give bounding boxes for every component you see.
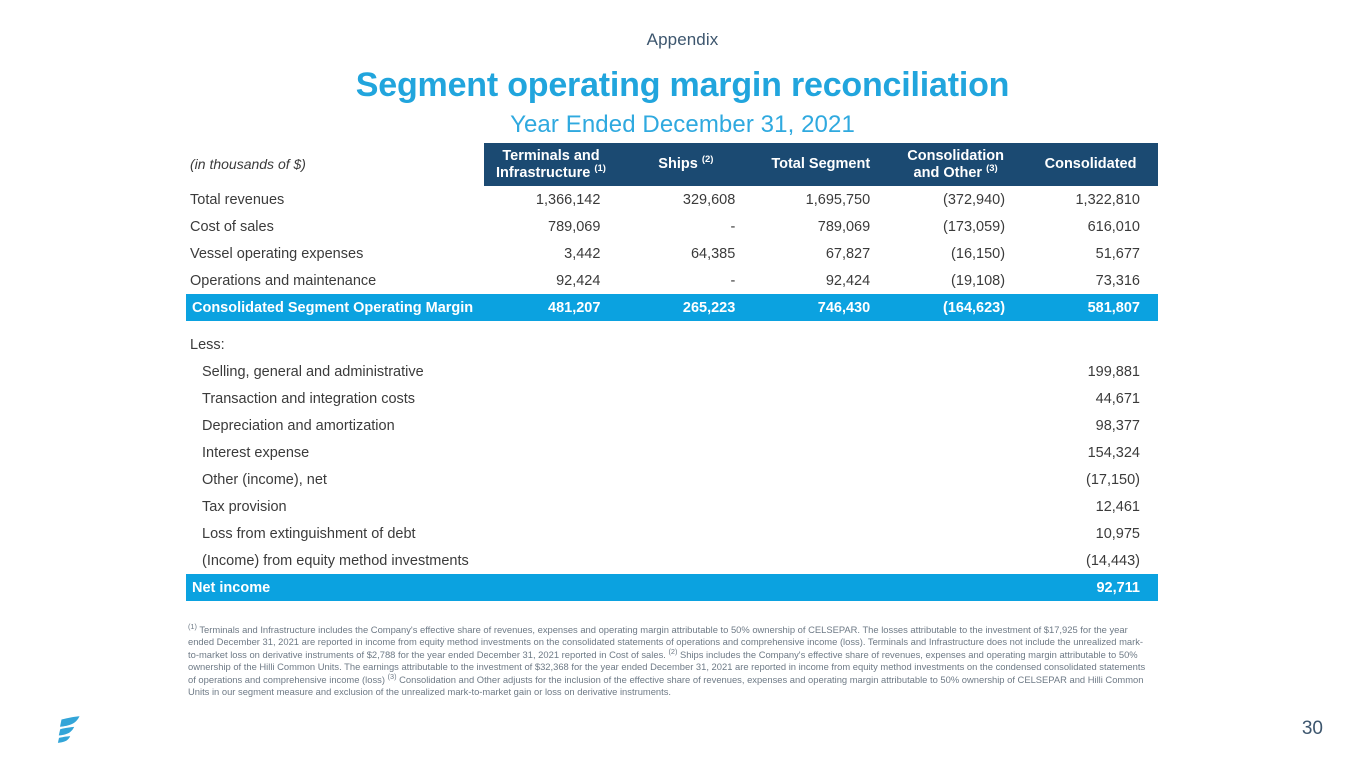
units-label: (in thousands of $) (186, 143, 484, 186)
footnote-marker: (3) (388, 672, 397, 681)
table-row: Selling, general and administrative199,8… (186, 358, 1158, 385)
row-value-col3: 67,827 (753, 240, 888, 267)
table-row: Other (income), net(17,150) (186, 466, 1158, 493)
column-header-footnote-marker: (3) (986, 163, 998, 174)
column-header-label: Ships (658, 156, 702, 172)
row-value-col3 (753, 493, 888, 520)
row-label: Operations and maintenance (186, 267, 484, 294)
row-spacer-cell (186, 321, 1158, 331)
table-body: Total revenues1,366,142329,6081,695,750(… (186, 186, 1158, 601)
row-value-col5 (1023, 331, 1158, 358)
row-value-col2 (618, 466, 753, 493)
row-value-col2 (618, 547, 753, 574)
row-value-col5: 581,807 (1023, 294, 1158, 321)
row-value-col3 (753, 547, 888, 574)
column-header-footnote-marker: (1) (594, 163, 606, 174)
row-value-col1 (484, 493, 619, 520)
row-value-col4: (16,150) (888, 240, 1023, 267)
row-value-col5: 199,881 (1023, 358, 1158, 385)
row-value-col3: 789,069 (753, 213, 888, 240)
row-value-col2 (618, 331, 753, 358)
row-value-col3: 746,430 (753, 294, 888, 321)
row-label: Cost of sales (186, 213, 484, 240)
row-value-col4: (372,940) (888, 186, 1023, 213)
row-label: Loss from extinguishment of debt (186, 520, 484, 547)
row-value-col1 (484, 385, 619, 412)
page-title: Segment operating margin reconciliation (0, 66, 1365, 105)
row-label: Interest expense (186, 439, 484, 466)
row-value-col2: 265,223 (618, 294, 753, 321)
row-value-col5: 10,975 (1023, 520, 1158, 547)
table-row-highlight: Consolidated Segment Operating Margin481… (186, 294, 1158, 321)
table-row: Operations and maintenance92,424-92,424(… (186, 267, 1158, 294)
row-value-col3 (753, 520, 888, 547)
row-label: Vessel operating expenses (186, 240, 484, 267)
row-value-col5: 98,377 (1023, 412, 1158, 439)
row-value-col4: (164,623) (888, 294, 1023, 321)
row-label: Depreciation and amortization (186, 412, 484, 439)
row-value-col2: 329,608 (618, 186, 753, 213)
page-subtitle: Year Ended December 31, 2021 (0, 111, 1365, 139)
row-value-col4 (888, 385, 1023, 412)
row-value-col2 (618, 439, 753, 466)
row-value-col5: 12,461 (1023, 493, 1158, 520)
row-value-col2 (618, 385, 753, 412)
row-value-col1 (484, 574, 619, 601)
row-value-col1 (484, 439, 619, 466)
row-label: Other (income), net (186, 466, 484, 493)
row-value-col3 (753, 412, 888, 439)
row-value-col4 (888, 331, 1023, 358)
table-row: Total revenues1,366,142329,6081,695,750(… (186, 186, 1158, 213)
row-value-col5: 92,711 (1023, 574, 1158, 601)
row-value-col5: (17,150) (1023, 466, 1158, 493)
table-row-highlight: Net income92,711 (186, 574, 1158, 601)
row-value-col5: 1,322,810 (1023, 186, 1158, 213)
column-header-4: Consolidation and Other (3) (888, 143, 1023, 186)
segment-operating-margin-table: (in thousands of $) Terminals and Infras… (186, 143, 1158, 601)
row-value-col1 (484, 547, 619, 574)
row-value-col2 (618, 574, 753, 601)
row-value-col5: 154,324 (1023, 439, 1158, 466)
row-value-col1: 481,207 (484, 294, 619, 321)
row-spacer (186, 321, 1158, 331)
table-row: Tax provision12,461 (186, 493, 1158, 520)
row-value-col1 (484, 466, 619, 493)
row-label: Selling, general and administrative (186, 358, 484, 385)
row-value-col1 (484, 520, 619, 547)
row-value-col4 (888, 574, 1023, 601)
column-header-label: Terminals and Infrastructure (496, 148, 600, 180)
table-row: Cost of sales789,069-789,069(173,059)616… (186, 213, 1158, 240)
row-value-col1 (484, 331, 619, 358)
row-value-col4 (888, 493, 1023, 520)
row-value-col3 (753, 439, 888, 466)
row-value-col1: 92,424 (484, 267, 619, 294)
row-value-col4: (19,108) (888, 267, 1023, 294)
row-label: Consolidated Segment Operating Margin (186, 294, 484, 321)
row-value-col1: 789,069 (484, 213, 619, 240)
row-value-col2: 64,385 (618, 240, 753, 267)
table-row: Vessel operating expenses3,44264,38567,8… (186, 240, 1158, 267)
row-value-col2: - (618, 267, 753, 294)
row-value-col3: 1,695,750 (753, 186, 888, 213)
row-value-col5: (14,443) (1023, 547, 1158, 574)
row-value-col2 (618, 358, 753, 385)
table-row: (Income) from equity method investments(… (186, 547, 1158, 574)
row-value-col2: - (618, 213, 753, 240)
column-header-1: Terminals and Infrastructure (1) (484, 143, 619, 186)
table-row: Less: (186, 331, 1158, 358)
row-value-col3: 92,424 (753, 267, 888, 294)
row-value-col4 (888, 547, 1023, 574)
row-value-col3 (753, 466, 888, 493)
row-value-col5: 616,010 (1023, 213, 1158, 240)
table-row: Interest expense154,324 (186, 439, 1158, 466)
row-value-col3 (753, 385, 888, 412)
row-label: Net income (186, 574, 484, 601)
row-value-col4 (888, 466, 1023, 493)
fortress-flng-f-logo (48, 712, 90, 754)
row-value-col2 (618, 412, 753, 439)
row-value-col5: 73,316 (1023, 267, 1158, 294)
row-value-col3 (753, 574, 888, 601)
row-value-col5: 44,671 (1023, 385, 1158, 412)
row-label: Tax provision (186, 493, 484, 520)
column-header-5: Consolidated (1023, 143, 1158, 186)
row-value-col1 (484, 358, 619, 385)
row-value-col1 (484, 412, 619, 439)
footnote-marker: (1) (188, 622, 197, 631)
footnotes-block: (1) Terminals and Infrastructure include… (188, 624, 1148, 698)
table-head: (in thousands of $) Terminals and Infras… (186, 143, 1158, 186)
reconciliation-table-wrapper: (in thousands of $) Terminals and Infras… (186, 143, 1158, 601)
column-header-2: Ships (2) (618, 143, 753, 186)
row-value-col4 (888, 412, 1023, 439)
row-value-col2 (618, 493, 753, 520)
row-value-col1: 3,442 (484, 240, 619, 267)
footnote-marker: (2) (668, 647, 677, 656)
column-header-footnote-marker: (2) (702, 155, 714, 166)
row-value-col3 (753, 358, 888, 385)
table-row: Depreciation and amortization98,377 (186, 412, 1158, 439)
column-header-label: Consolidated (1045, 156, 1137, 172)
row-value-col2 (618, 520, 753, 547)
row-value-col4 (888, 358, 1023, 385)
page-number: 30 (1302, 718, 1323, 740)
row-value-col1: 1,366,142 (484, 186, 619, 213)
table-header-row: (in thousands of $) Terminals and Infras… (186, 143, 1158, 186)
row-value-col4 (888, 520, 1023, 547)
row-label: Transaction and integration costs (186, 385, 484, 412)
row-value-col4 (888, 439, 1023, 466)
column-header-3: Total Segment (753, 143, 888, 186)
row-value-col5: 51,677 (1023, 240, 1158, 267)
row-label: Total revenues (186, 186, 484, 213)
row-value-col4: (173,059) (888, 213, 1023, 240)
table-row: Transaction and integration costs44,671 (186, 385, 1158, 412)
row-value-col3 (753, 331, 888, 358)
row-label: Less: (186, 331, 484, 358)
column-header-label: Total Segment (771, 156, 870, 172)
appendix-eyebrow: Appendix (0, 30, 1365, 50)
table-row: Loss from extinguishment of debt10,975 (186, 520, 1158, 547)
row-label: (Income) from equity method investments (186, 547, 484, 574)
